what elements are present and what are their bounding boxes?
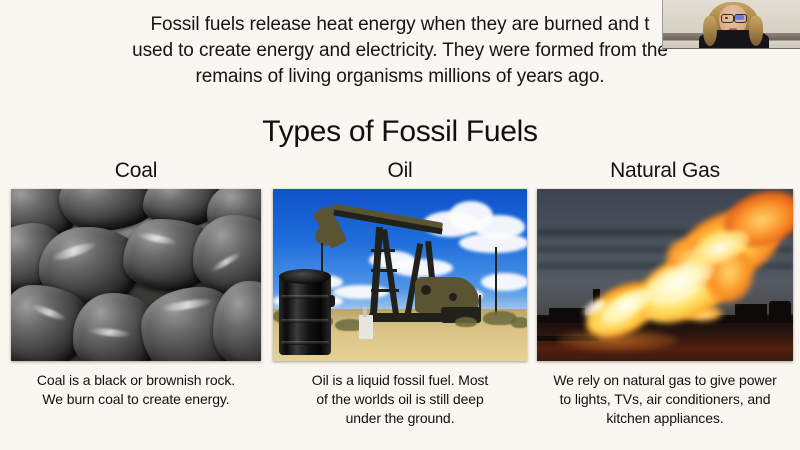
column-label-natural-gas: Natural Gas <box>537 158 793 184</box>
column-gas: Natural Gas <box>537 158 793 428</box>
presentation-slide: Fossil fuels release heat energy when th… <box>0 0 800 450</box>
oil-photo <box>273 189 527 361</box>
presenter-hair-strand <box>703 16 717 46</box>
coal-photo <box>11 189 261 361</box>
presenter-eye <box>725 17 728 19</box>
presenter-glasses-glare <box>735 15 744 20</box>
natural-gas-photo <box>537 189 793 361</box>
caption-coal: Coal is a black or brownish rock. We bur… <box>11 371 261 409</box>
presenter-webcam[interactable] <box>662 0 800 49</box>
intro-paragraph: Fossil fuels release heat energy when th… <box>60 12 740 90</box>
column-oil: Oil <box>273 158 527 428</box>
caption-natural-gas: We rely on natural gas to give power to … <box>537 371 793 428</box>
column-label-coal: Coal <box>11 158 261 184</box>
page-title: Types of Fossil Fuels <box>0 114 800 150</box>
caption-oil: Oil is a liquid fossil fuel. Most of the… <box>273 371 527 428</box>
column-coal: Coal Coal is a black or brownish rock. W… <box>11 158 261 409</box>
column-label-oil: Oil <box>273 158 527 184</box>
presenter-glasses <box>721 14 734 23</box>
presenter-hair-strand <box>749 16 763 46</box>
